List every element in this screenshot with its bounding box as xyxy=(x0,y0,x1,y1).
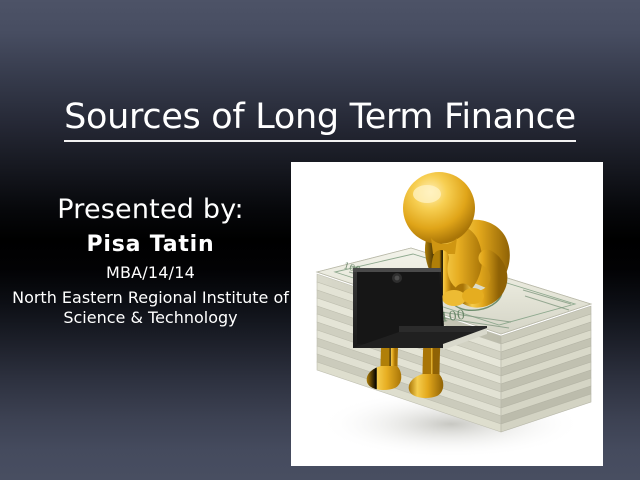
presentation-slide: Sources of Long Term Finance Presented b… xyxy=(0,0,640,480)
presented-by-label: Presented by: xyxy=(8,192,293,228)
presenter-roll-number: MBA/14/14 xyxy=(8,262,293,284)
institute-name: North Eastern Regional Institute of Scie… xyxy=(8,288,293,328)
illustration-image: 100 100 xyxy=(291,162,603,466)
presenter-name: Pisa Tatin xyxy=(8,230,293,260)
title-block: Sources of Long Term Finance xyxy=(0,96,640,142)
gold-figure-on-money-stack-icon: 100 100 xyxy=(291,162,603,466)
slide-title: Sources of Long Term Finance xyxy=(64,96,576,142)
byline-block: Presented by: Pisa Tatin MBA/14/14 North… xyxy=(8,192,293,328)
